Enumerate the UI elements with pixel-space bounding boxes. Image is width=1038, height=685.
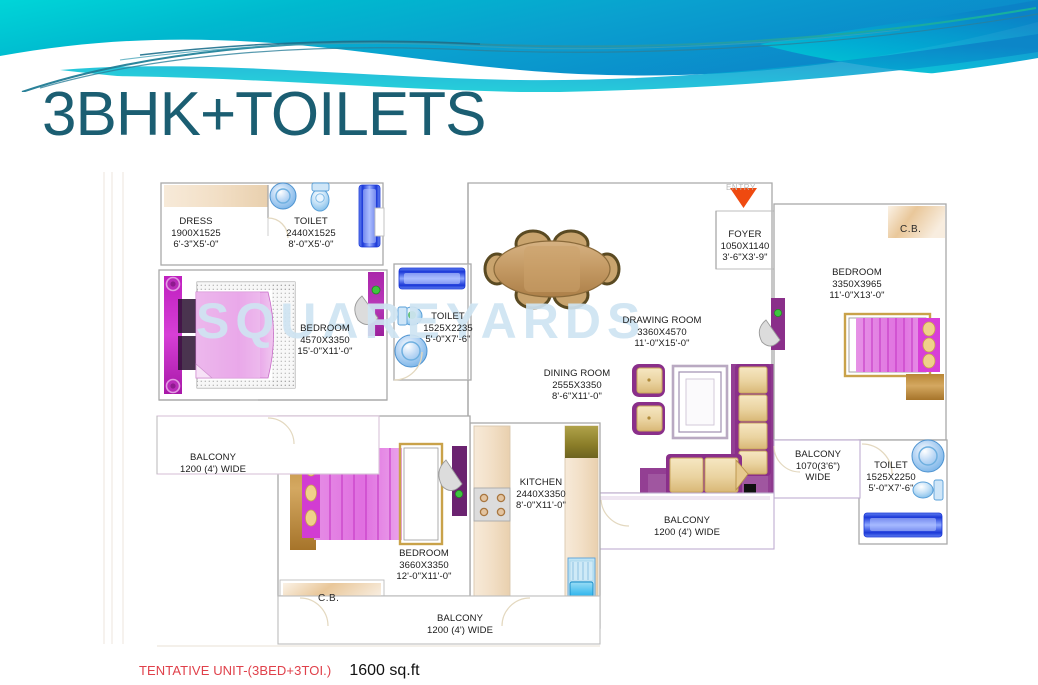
room-name: TOILET <box>286 216 336 228</box>
balcony-width: 1200 (4') WIDE <box>427 625 493 637</box>
balcony-label-center: BALCONY 1200 (4') WIDE <box>654 515 720 538</box>
balcony-width-extra: WIDE <box>795 472 841 484</box>
room-dim-mm: 1525X2235 <box>423 323 473 335</box>
room-dim-ft: 15'-0"X11'-0" <box>297 346 352 358</box>
balcony-width: 1200 (4') WIDE <box>654 527 720 539</box>
room-name: TOILET <box>866 460 916 472</box>
room-name: BEDROOM <box>829 267 884 279</box>
room-dim-mm: 2555X3350 <box>544 380 611 392</box>
room-label-bedroom-left: BEDROOM 4570X3350 15'-0"X11'-0" <box>297 323 352 358</box>
balcony-label-right: BALCONY 1070(3'6") WIDE <box>795 449 841 484</box>
bedroom-right-block <box>759 204 946 440</box>
room-dim-ft: 11'-0"X15'-0" <box>623 338 702 350</box>
room-name: KITCHEN <box>516 477 566 489</box>
room-name: DRAWING ROOM <box>623 315 702 327</box>
balcony-width: 1070(3'6") <box>795 461 841 473</box>
room-name: FOYER <box>721 229 770 241</box>
room-label-kitchen: KITCHEN 2440X3350 8'-0"X11'-0" <box>516 477 566 512</box>
room-dim-mm: 2440X3350 <box>516 489 566 501</box>
guide-lines <box>104 172 123 644</box>
room-label-toilet-3: TOILET 1525X2250 5'-0"X7'-6" <box>866 460 916 495</box>
balcony-name: BALCONY <box>795 449 841 461</box>
room-dim-ft: 5'-0"X7'-6" <box>866 483 916 495</box>
balcony-name: BALCONY <box>180 452 246 464</box>
bedroom-left-block <box>159 270 387 400</box>
cupboard-label-bottom-left: C.B. <box>318 593 339 604</box>
room-label-bedroom-right: BEDROOM 3350X3965 11'-0"X13'-0" <box>829 267 884 302</box>
footer-caption: TENTATIVE UNIT-(3BED+3TOI.)1600 sq.ft <box>139 662 420 680</box>
room-dim-ft: 8'-0"X11'-0" <box>516 500 566 512</box>
room-dim-mm: 3350X3965 <box>829 279 884 291</box>
room-label-bedroom-bottom: BEDROOM 3660X3350 12'-0"X11'-0" <box>396 548 451 583</box>
room-dim-ft: 8'-6"X11'-0" <box>544 391 611 403</box>
room-dim-ft: 11'-0"X13'-0" <box>829 290 884 302</box>
page-title: 3BHK+TOILETS <box>42 84 485 146</box>
room-label-toilet-2: TOILET 1525X2235 5'-0"X7'-6" <box>423 311 473 346</box>
unit-area-text: 1600 sq.ft <box>349 662 419 679</box>
balcony-label-left: BALCONY 1200 (4') WIDE <box>180 452 246 475</box>
armchair-lower <box>632 402 665 435</box>
center-rug <box>673 366 727 438</box>
room-dim-ft: 8'-0"X5'-0" <box>286 239 336 251</box>
armchair-upper <box>632 364 665 397</box>
room-name: DINING ROOM <box>544 368 611 380</box>
drawing-room-furniture <box>632 364 774 501</box>
room-dim-mm: 2440X1525 <box>286 228 336 240</box>
room-label-foyer: FOYER 1050X1140 3'-6"X3'-9" <box>721 229 770 264</box>
entry-label: ENTRY <box>726 183 756 192</box>
room-dim-ft: 12'-0"X11'-0" <box>396 571 451 583</box>
room-dim-mm: 3660X3350 <box>396 560 451 572</box>
cupboard-label-top-right: C.B. <box>900 224 921 235</box>
room-dim-mm: 1050X1140 <box>721 241 770 253</box>
room-dim-mm: 1900X1525 <box>171 228 221 240</box>
room-label-dining-room: DINING ROOM 2555X3350 8'-6"X11'-0" <box>544 368 611 403</box>
balcony-name: BALCONY <box>654 515 720 527</box>
room-name: BEDROOM <box>297 323 352 335</box>
room-label-drawing-room: DRAWING ROOM 3360X4570 11'-0"X15'-0" <box>623 315 702 350</box>
room-dim-ft: 5'-0"X7'-6" <box>423 334 473 346</box>
room-name: DRESS <box>171 216 221 228</box>
tentative-unit-text: TENTATIVE UNIT-(3BED+3TOI.) <box>139 663 331 678</box>
room-dim-ft: 3'-6"X3'-9" <box>721 252 770 264</box>
room-dim-mm: 1525X2250 <box>866 472 916 484</box>
header-banner-decoration <box>0 0 1038 92</box>
room-label-dress: DRESS 1900X1525 6'-3"X5'-0" <box>171 216 221 251</box>
room-dim-mm: 3360X4570 <box>623 327 702 339</box>
balcony-label-bottom: BALCONY 1200 (4') WIDE <box>427 613 493 636</box>
room-dim-ft: 6'-3"X5'-0" <box>171 239 221 251</box>
room-name: TOILET <box>423 311 473 323</box>
room-dim-mm: 4570X3350 <box>297 335 352 347</box>
floorplan-drawing <box>0 168 1038 648</box>
balcony-width: 1200 (4') WIDE <box>180 464 246 476</box>
room-label-toilet-1: TOILET 2440X1525 8'-0"X5'-0" <box>286 216 336 251</box>
balcony-name: BALCONY <box>427 613 493 625</box>
slide-page: 3BHK+TOILETS <box>0 0 1038 685</box>
room-name: BEDROOM <box>396 548 451 560</box>
